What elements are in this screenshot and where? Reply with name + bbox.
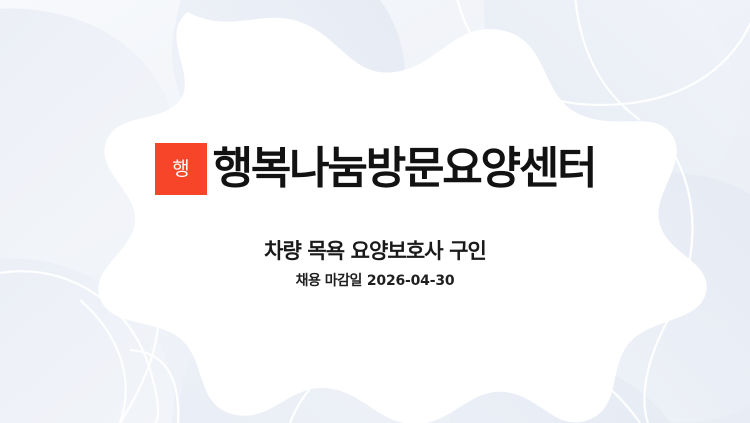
brand-row: 행 행복나눔방문요양센터 [0, 143, 750, 195]
company-initial-badge-icon: 행 [155, 143, 207, 195]
job-posting-banner: 행 행복나눔방문요양센터 차량 목욕 요양보호사 구인 채용 마감일2026-0… [0, 0, 750, 423]
company-initial-letter: 행 [172, 160, 189, 179]
job-title: 차량 목욕 요양보호사 구인 [0, 239, 750, 264]
banner-content: 행 행복나눔방문요양센터 차량 목욕 요양보호사 구인 채용 마감일2026-0… [0, 0, 750, 423]
application-deadline: 채용 마감일2026-04-30 [0, 273, 750, 290]
company-name: 행복나눔방문요양센터 [213, 147, 596, 191]
deadline-date: 2026-04-30 [367, 273, 455, 289]
deadline-label: 채용 마감일 [296, 273, 362, 289]
